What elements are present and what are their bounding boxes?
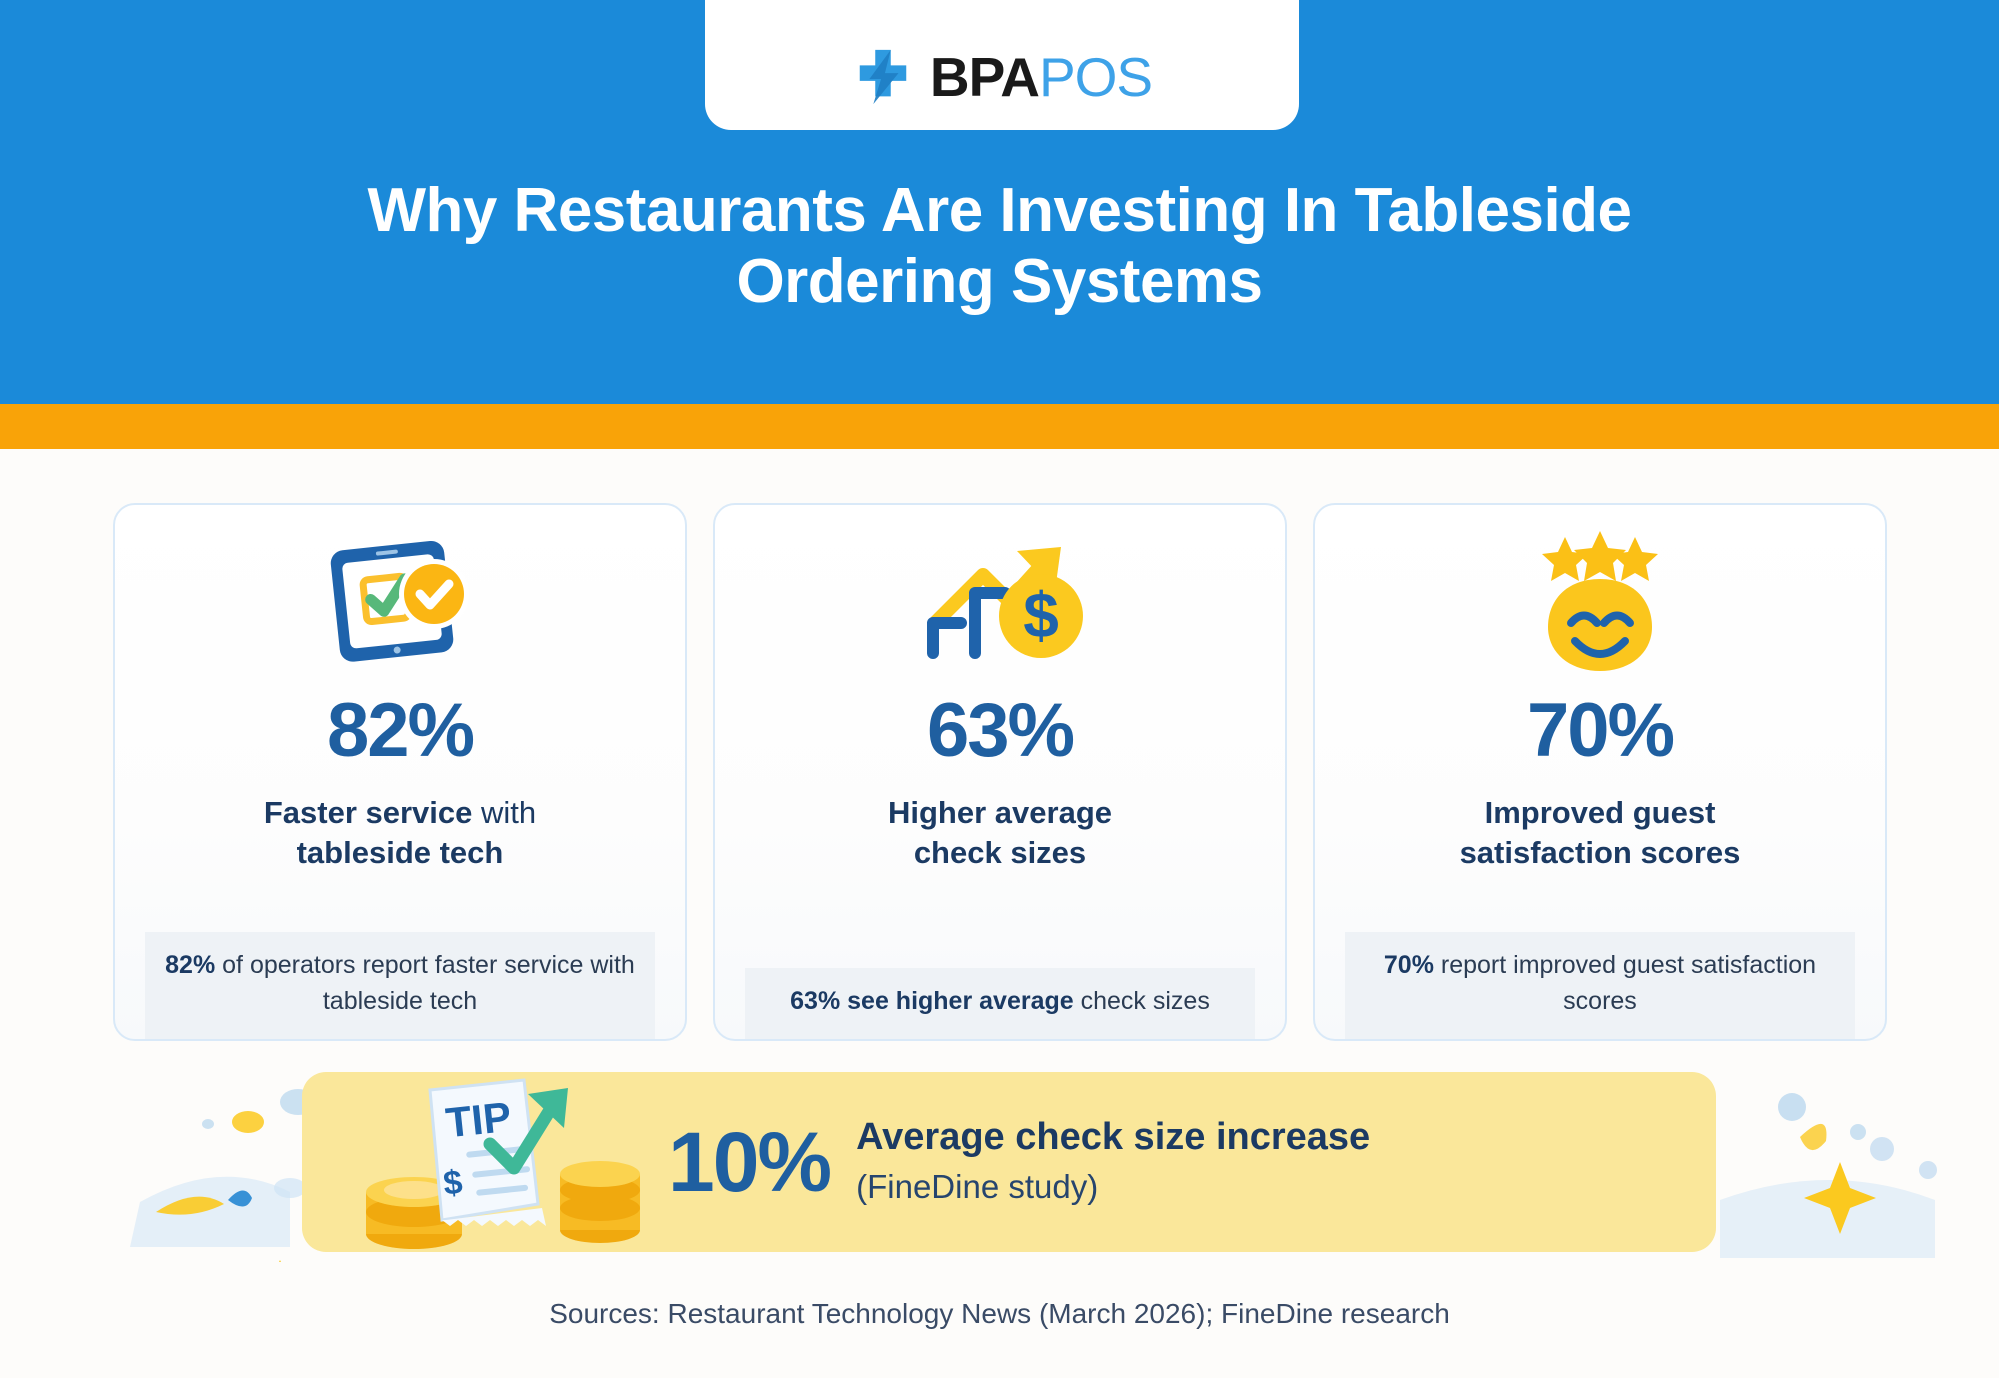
header-banner: BPAPOS Why Restaurants Are Investing In … bbox=[0, 0, 1999, 404]
stat-label-line2: check sizes bbox=[914, 835, 1086, 870]
logo-bpa-text: BPA bbox=[930, 50, 1039, 105]
stat-cards-row: 82% Faster service with tableside tech 8… bbox=[113, 503, 1887, 1041]
cross-bolt-icon bbox=[852, 46, 914, 108]
smiling-face-stars-icon bbox=[1505, 531, 1695, 679]
stat-percent: 63% bbox=[927, 693, 1073, 769]
stat-card-check-sizes: $ 63% Higher average check sizes 63% see… bbox=[713, 503, 1287, 1041]
brand-logo: BPAPOS bbox=[852, 46, 1152, 108]
logo-wordmark: BPAPOS bbox=[930, 50, 1152, 105]
sources-line: Sources: Restaurant Technology News (Mar… bbox=[0, 1298, 1999, 1330]
orange-accent-band bbox=[0, 404, 1999, 449]
stat-label: Faster service with tableside tech bbox=[224, 793, 576, 872]
logo-container: BPAPOS bbox=[705, 0, 1299, 130]
banner-line1: Average check size increase bbox=[856, 1115, 1370, 1161]
banner-line2: (FineDine study) bbox=[856, 1166, 1370, 1209]
stat-label-bold: Higher average bbox=[888, 795, 1112, 830]
stat-footnote-bold: 70% bbox=[1384, 951, 1434, 979]
infographic-page: BPAPOS Why Restaurants Are Investing In … bbox=[0, 0, 1999, 1378]
logo-pos-text: POS bbox=[1039, 50, 1152, 105]
banner-percent: 10% bbox=[668, 1120, 830, 1204]
tablet-checkmark-icon bbox=[305, 531, 495, 679]
svg-text:$: $ bbox=[1023, 579, 1059, 651]
stat-footnote-rest: report improved guest satisfaction score… bbox=[1434, 951, 1816, 1015]
stat-footnote: 63% see higher average check sizes bbox=[745, 968, 1255, 1040]
confetti-right-icon bbox=[1700, 1062, 1950, 1262]
stat-card-satisfaction: 70% Improved guest satisfaction scores 7… bbox=[1313, 503, 1887, 1041]
stat-label: Higher average check sizes bbox=[848, 793, 1152, 872]
stat-label-bold: Improved guest bbox=[1485, 795, 1716, 830]
coin-stack-right bbox=[560, 1161, 640, 1243]
stat-footnote-rest: check sizes bbox=[1074, 987, 1210, 1015]
stat-card-faster-service: 82% Faster service with tableside tech 8… bbox=[113, 503, 687, 1041]
stat-percent: 82% bbox=[327, 693, 473, 769]
stat-label-bold: Faster service bbox=[264, 795, 473, 830]
svg-text:TIP: TIP bbox=[444, 1093, 514, 1147]
stat-label: Improved guest satisfaction scores bbox=[1420, 793, 1781, 872]
stat-footnote-bold: 82% bbox=[165, 951, 215, 979]
growth-chart-dollar-icon: $ bbox=[905, 531, 1095, 679]
banner-text: Average check size increase (FineDine st… bbox=[856, 1115, 1370, 1209]
highlight-banner: TIP $ 10% Average check size increase (F… bbox=[302, 1072, 1716, 1252]
stat-footnote: 82% of operators report faster service w… bbox=[145, 932, 655, 1039]
svg-text:$: $ bbox=[441, 1163, 464, 1203]
stat-label-line2: tableside tech bbox=[297, 835, 504, 870]
page-title: Why Restaurants Are Investing In Tablesi… bbox=[0, 176, 1999, 317]
tip-receipt-coins-icon: TIP $ bbox=[342, 1072, 652, 1252]
stat-label-line2: satisfaction scores bbox=[1460, 835, 1741, 870]
stat-footnote-rest: of operators report faster service with … bbox=[215, 951, 635, 1015]
stat-footnote-bold: 63% see higher average bbox=[790, 987, 1074, 1015]
stat-label-light: with bbox=[472, 795, 536, 830]
stat-footnote: 70% report improved guest satisfaction s… bbox=[1345, 932, 1855, 1039]
stat-percent: 70% bbox=[1527, 693, 1673, 769]
